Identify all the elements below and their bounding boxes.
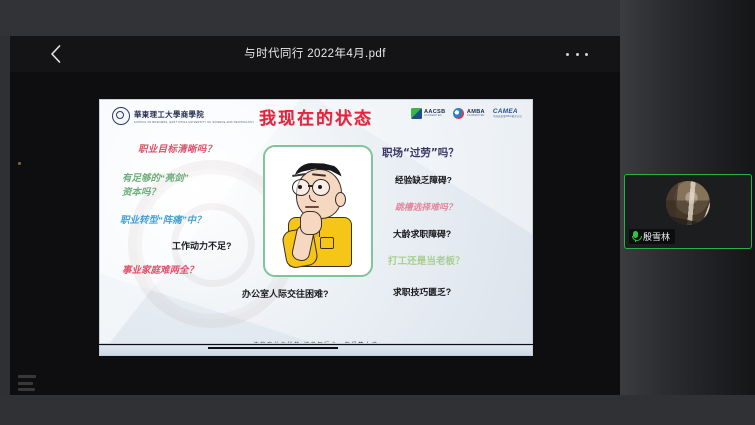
question-text: 办公室人际交往困难? (242, 290, 329, 299)
thinking-man-cartoon-icon (263, 145, 373, 277)
list-icon-line (18, 388, 35, 391)
question-text: 职业目标清晰吗？ (138, 146, 216, 156)
cartoon-eye (298, 185, 302, 189)
slide-header: 華東理工大學商學院 SCHOOL OF BUSINESS, EAST CHINA… (100, 100, 532, 134)
meeting-screen-share-window: 与时代同行 2022年4月.pdf 華東理工大學商學院 S (0, 0, 755, 425)
list-icon-line (18, 375, 36, 378)
question-text: 求职技巧匮乏? (393, 288, 451, 297)
aacsb-logo-icon (411, 108, 422, 119)
document-title: 与时代同行 2022年4月.pdf (10, 36, 620, 72)
question-text: 资本吗？ (122, 189, 160, 199)
more-options-button[interactable] (566, 46, 588, 62)
list-icon-line (18, 382, 33, 385)
participant-video-tile[interactable]: 殷雪林 (624, 174, 752, 249)
question-text: 经验缺乏障碍? (395, 176, 452, 185)
pdf-page[interactable]: 華東理工大學商學院 SCHOOL OF BUSINESS, EAST CHINA… (99, 99, 533, 344)
cartoon-ear (335, 192, 346, 207)
more-options-icon (576, 53, 579, 56)
amba-logo: AMBA ACCREDITED (453, 108, 484, 119)
more-options-icon (566, 53, 569, 56)
accreditation-logos: AACSB ACCREDITED AMBA ACCREDITED CA (411, 108, 522, 119)
cartoon-eye (318, 185, 322, 189)
avatar (666, 181, 710, 225)
list-icon[interactable] (18, 375, 40, 391)
camea-logo: CAMEA 中国高质量MBA教育认证 (493, 109, 522, 118)
shared-screen-stage: 与时代同行 2022年4月.pdf 華東理工大學商學院 S (10, 36, 620, 395)
question-text: 职场“过劳”吗？ (382, 148, 459, 159)
footer-tagline-cn: 连接商业与科技 培养知行合一的经营人才 (100, 341, 532, 344)
camea-sub: 中国高质量MBA教育认证 (493, 116, 522, 118)
window-bottom-bar (0, 395, 755, 425)
amba-sub: ACCREDITED (467, 115, 485, 117)
question-text: 跳槽选择难吗？ (395, 203, 457, 212)
pdf-next-page-preview[interactable] (99, 345, 533, 356)
cartoon-pocket (320, 237, 334, 249)
microphone-on-icon (631, 231, 640, 242)
question-text: 大龄求职障碍? (393, 230, 451, 239)
aacsb-sub: ACCREDITED (424, 115, 445, 117)
participant-name: 殷雪林 (643, 230, 670, 243)
avatar-image (666, 181, 710, 225)
aacsb-logo: AACSB ACCREDITED (411, 108, 446, 119)
status-dot-icon (18, 162, 21, 165)
cartoon-mouth (305, 206, 319, 208)
question-text: 有足够的“亮剑” (122, 175, 189, 185)
question-text: 工作动力不足? (172, 242, 232, 251)
cartoon-hand (300, 211, 322, 235)
participant-name-label: 殷雪林 (629, 229, 675, 244)
question-text: 事业家庭难两全？ (122, 267, 198, 277)
question-text: 打工还是当老板？ (388, 257, 465, 267)
more-options-icon (585, 53, 588, 56)
amba-logo-icon (453, 108, 464, 119)
question-text: 职业转型“阵痛”中？ (120, 217, 206, 227)
document-title-bar: 与时代同行 2022年4月.pdf (10, 36, 620, 72)
cartoon-glasses-bridge (308, 185, 313, 187)
